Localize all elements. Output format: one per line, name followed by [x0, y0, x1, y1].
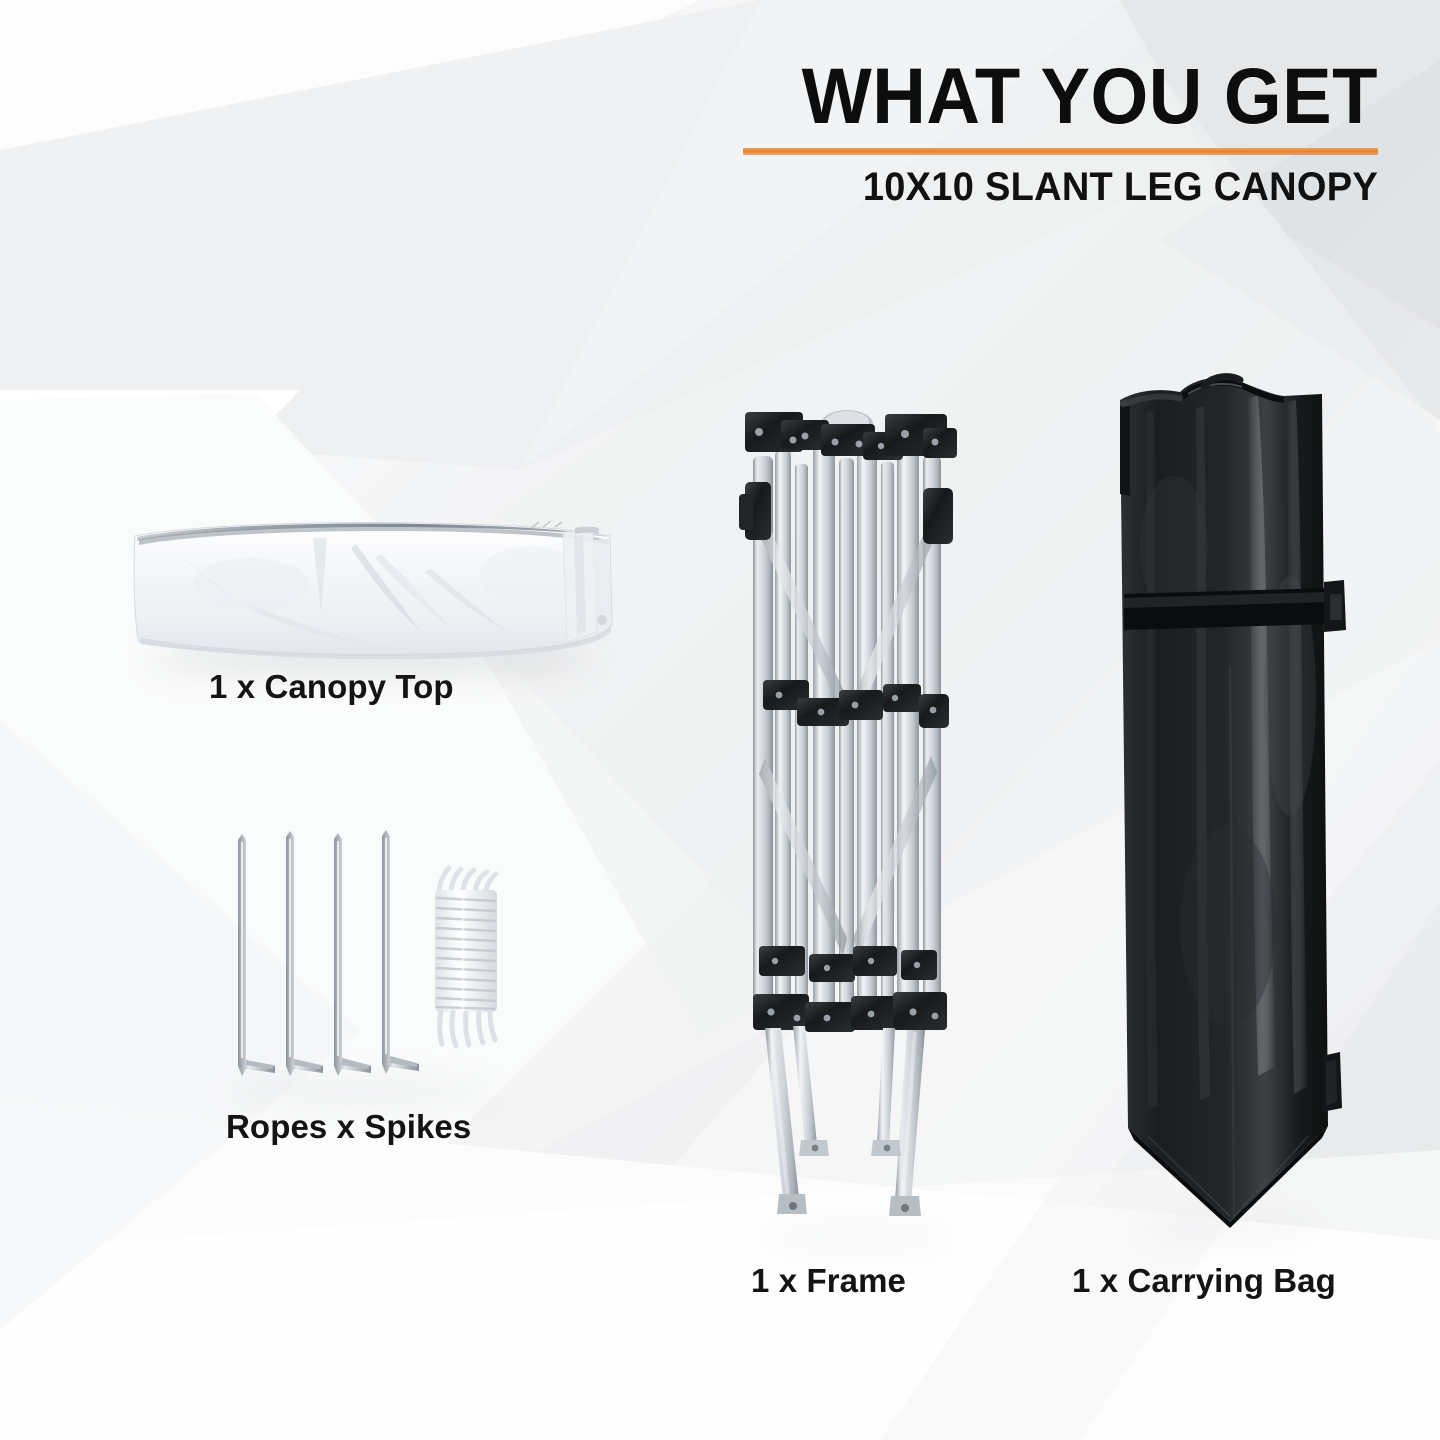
frame-image — [735, 398, 970, 1248]
carrying-bag-image — [1108, 366, 1348, 1246]
canopy-top-image — [131, 514, 618, 659]
carrying-bag-label: 1 x Carrying Bag — [1072, 1262, 1336, 1300]
infographic-canvas: WHAT YOU GET 10X10 SLANT LEG CANOPY — [0, 0, 1440, 1440]
ropes-and-spikes-image — [215, 828, 515, 1100]
canopy-top-label: 1 x Canopy Top — [209, 668, 454, 706]
frame-label: 1 x Frame — [751, 1262, 906, 1300]
accent-divider — [743, 148, 1378, 155]
page-title: WHAT YOU GET — [781, 58, 1378, 134]
ropes-spikes-label: Ropes x Spikes — [226, 1108, 471, 1146]
header-block: WHAT YOU GET 10X10 SLANT LEG CANOPY — [743, 58, 1378, 210]
page-subtitle: 10X10 SLANT LEG CANOPY — [775, 165, 1378, 210]
